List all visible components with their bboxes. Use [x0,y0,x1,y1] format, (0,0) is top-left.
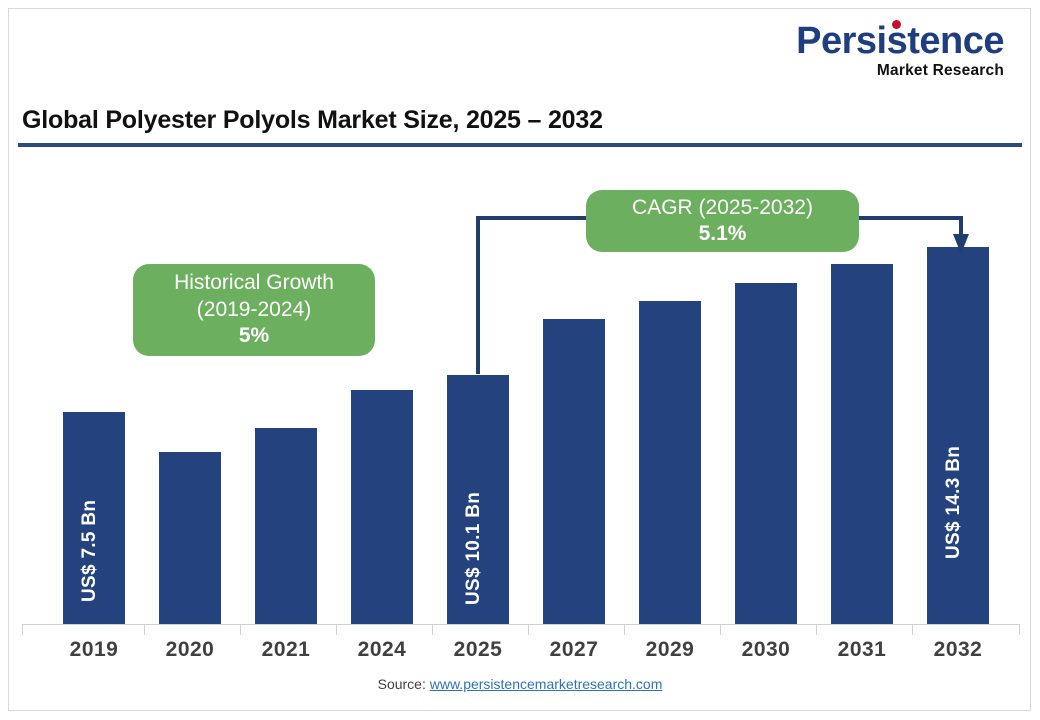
bar-2027 [543,319,605,624]
chart-page: Persistence Market Research Global Polye… [0,0,1040,720]
bar-chart-plot-area: US$ 7.5 Bn US$ 10.1 Bn US$ 14.3 Bn 2019 … [0,0,1040,720]
x-axis-label-2025: 2025 [430,638,526,662]
bar-2024 [351,390,413,624]
source-url-link[interactable]: www.persistencemarketresearch.com [430,676,663,692]
x-axis-label-2021: 2021 [238,638,334,662]
axis-tick [432,624,433,635]
axis-tick [22,624,23,635]
bar-2021 [255,428,317,624]
x-axis-label-2032: 2032 [910,638,1006,662]
x-axis-label-2024: 2024 [334,638,430,662]
x-axis-label-2027: 2027 [526,638,622,662]
x-axis-label-2019: 2019 [46,638,142,662]
axis-tick [336,624,337,635]
axis-tick [912,624,913,635]
bar-value-label-2032: US$ 14.3 Bn [943,446,965,559]
axis-tick [624,624,625,635]
source-prefix: Source: [378,676,430,692]
cagr-line1: CAGR (2025-2032) [632,195,813,221]
historical-growth-callout: Historical Growth (2019-2024) 5% [133,264,375,356]
axis-tick [1019,624,1020,635]
x-axis-label-2031: 2031 [814,638,910,662]
historical-growth-line2: (2019-2024) [197,297,311,323]
bar-value-label-2025: US$ 10.1 Bn [463,492,485,605]
historical-growth-value: 5% [239,323,269,349]
x-axis-label-2030: 2030 [718,638,814,662]
bar-2030 [735,283,797,624]
axis-tick [816,624,817,635]
axis-tick [144,624,145,635]
axis-tick [528,624,529,635]
axis-tick [240,624,241,635]
bar-2020 [159,452,221,624]
bar-2031 [831,264,893,624]
source-line: Source: www.persistencemarketresearch.co… [0,676,1040,692]
historical-growth-line1: Historical Growth [174,270,334,296]
cagr-callout: CAGR (2025-2032) 5.1% [586,190,859,252]
bar-value-label-2019: US$ 7.5 Bn [79,500,101,602]
x-axis-line [22,624,1020,625]
bar-2029 [639,301,701,624]
bar-2032 [927,247,989,624]
x-axis-label-2029: 2029 [622,638,718,662]
cagr-value: 5.1% [699,221,747,247]
axis-tick [720,624,721,635]
x-axis-label-2020: 2020 [142,638,238,662]
